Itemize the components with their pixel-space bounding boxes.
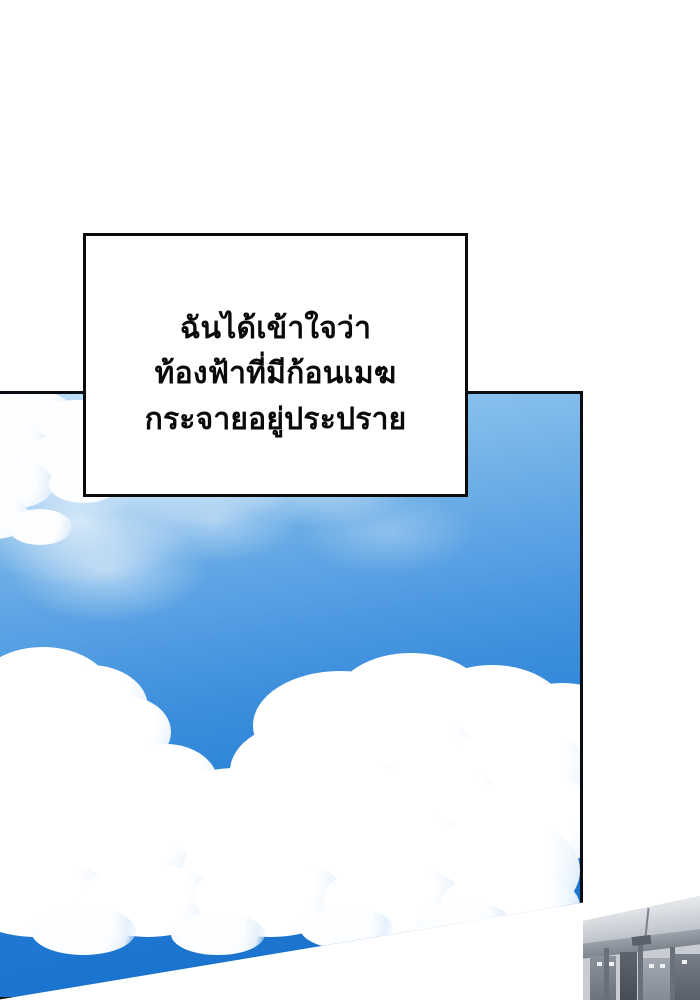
cloud-puff: [416, 901, 509, 943]
city-window: [660, 964, 665, 968]
city-pillar: [670, 947, 675, 1000]
city-pillar: [604, 948, 609, 1000]
city-window: [649, 964, 654, 968]
city-window: [682, 960, 687, 964]
right-gutter: [583, 391, 700, 896]
narration-text: ฉันได้เข้าใจว่า ท้องฟ้าที่มีก้อนเมฆ กระจ…: [135, 306, 417, 443]
narration-line-3: กระจายอยู่ประปราย: [145, 397, 407, 443]
city-window: [609, 962, 614, 966]
narration-line-2: ท้องฟ้าที่มีก้อนเมฆ: [145, 351, 407, 397]
city-pillar: [638, 945, 643, 1000]
cloud-puff: [31, 907, 136, 955]
cityscape-panel: [583, 896, 700, 1000]
cloud-puff: [8, 509, 72, 545]
comic-page: ฉันได้เข้าใจว่า ท้องฟ้าที่มีก้อนเมฆ กระจ…: [0, 0, 700, 1000]
city-building: [620, 952, 636, 1000]
narration-line-1: ฉันได้เข้าใจว่า: [145, 306, 407, 352]
narration-box[interactable]: ฉันได้เข้าใจว่า ท้องฟ้าที่มีก้อนเมฆ กระจ…: [83, 233, 468, 497]
city-building: [675, 954, 700, 1000]
cloud-puff: [300, 907, 393, 949]
cloud-puff: [171, 913, 264, 955]
city-window: [597, 962, 602, 966]
city-building: [642, 958, 672, 1000]
